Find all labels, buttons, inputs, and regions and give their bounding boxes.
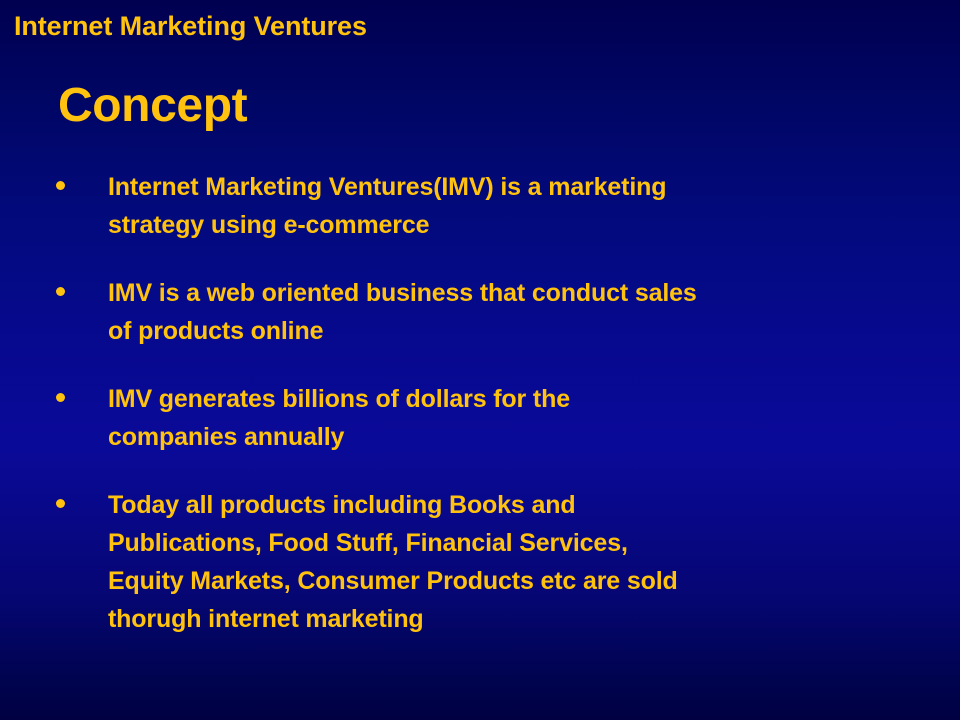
bullet-dot-icon (56, 393, 65, 402)
list-item: Internet Marketing Ventures(IMV) is a ma… (50, 168, 930, 244)
list-item-text: Internet Marketing Ventures(IMV) is a ma… (108, 168, 930, 244)
list-item-text: Today all products including Books and P… (108, 486, 930, 638)
text-line: Today all products including Books and (108, 486, 930, 524)
text-line: companies annually (108, 418, 930, 456)
list-item-text: IMV is a web oriented business that cond… (108, 274, 930, 350)
text-line: IMV generates billions of dollars for th… (108, 380, 930, 418)
text-line: strategy using e-commerce (108, 206, 930, 244)
bullet-dot-icon (56, 499, 65, 508)
list-item: IMV generates billions of dollars for th… (50, 380, 930, 456)
presentation-slide: Internet Marketing Ventures Concept Inte… (0, 0, 960, 720)
text-line: IMV is a web oriented business that cond… (108, 274, 930, 312)
text-line: thorugh internet marketing (108, 600, 930, 638)
page-title: Concept (58, 78, 247, 133)
bullet-list: Internet Marketing Ventures(IMV) is a ma… (50, 168, 930, 638)
list-item: IMV is a web oriented business that cond… (50, 274, 930, 350)
slide-header: Internet Marketing Ventures (14, 11, 367, 42)
text-line: Publications, Food Stuff, Financial Serv… (108, 524, 930, 562)
list-item-text: IMV generates billions of dollars for th… (108, 380, 930, 456)
bullet-dot-icon (56, 181, 65, 190)
text-line: of products online (108, 312, 930, 350)
text-line: Equity Markets, Consumer Products etc ar… (108, 562, 930, 600)
list-item: Today all products including Books and P… (50, 486, 930, 638)
text-line: Internet Marketing Ventures(IMV) is a ma… (108, 168, 930, 206)
bullet-dot-icon (56, 287, 65, 296)
